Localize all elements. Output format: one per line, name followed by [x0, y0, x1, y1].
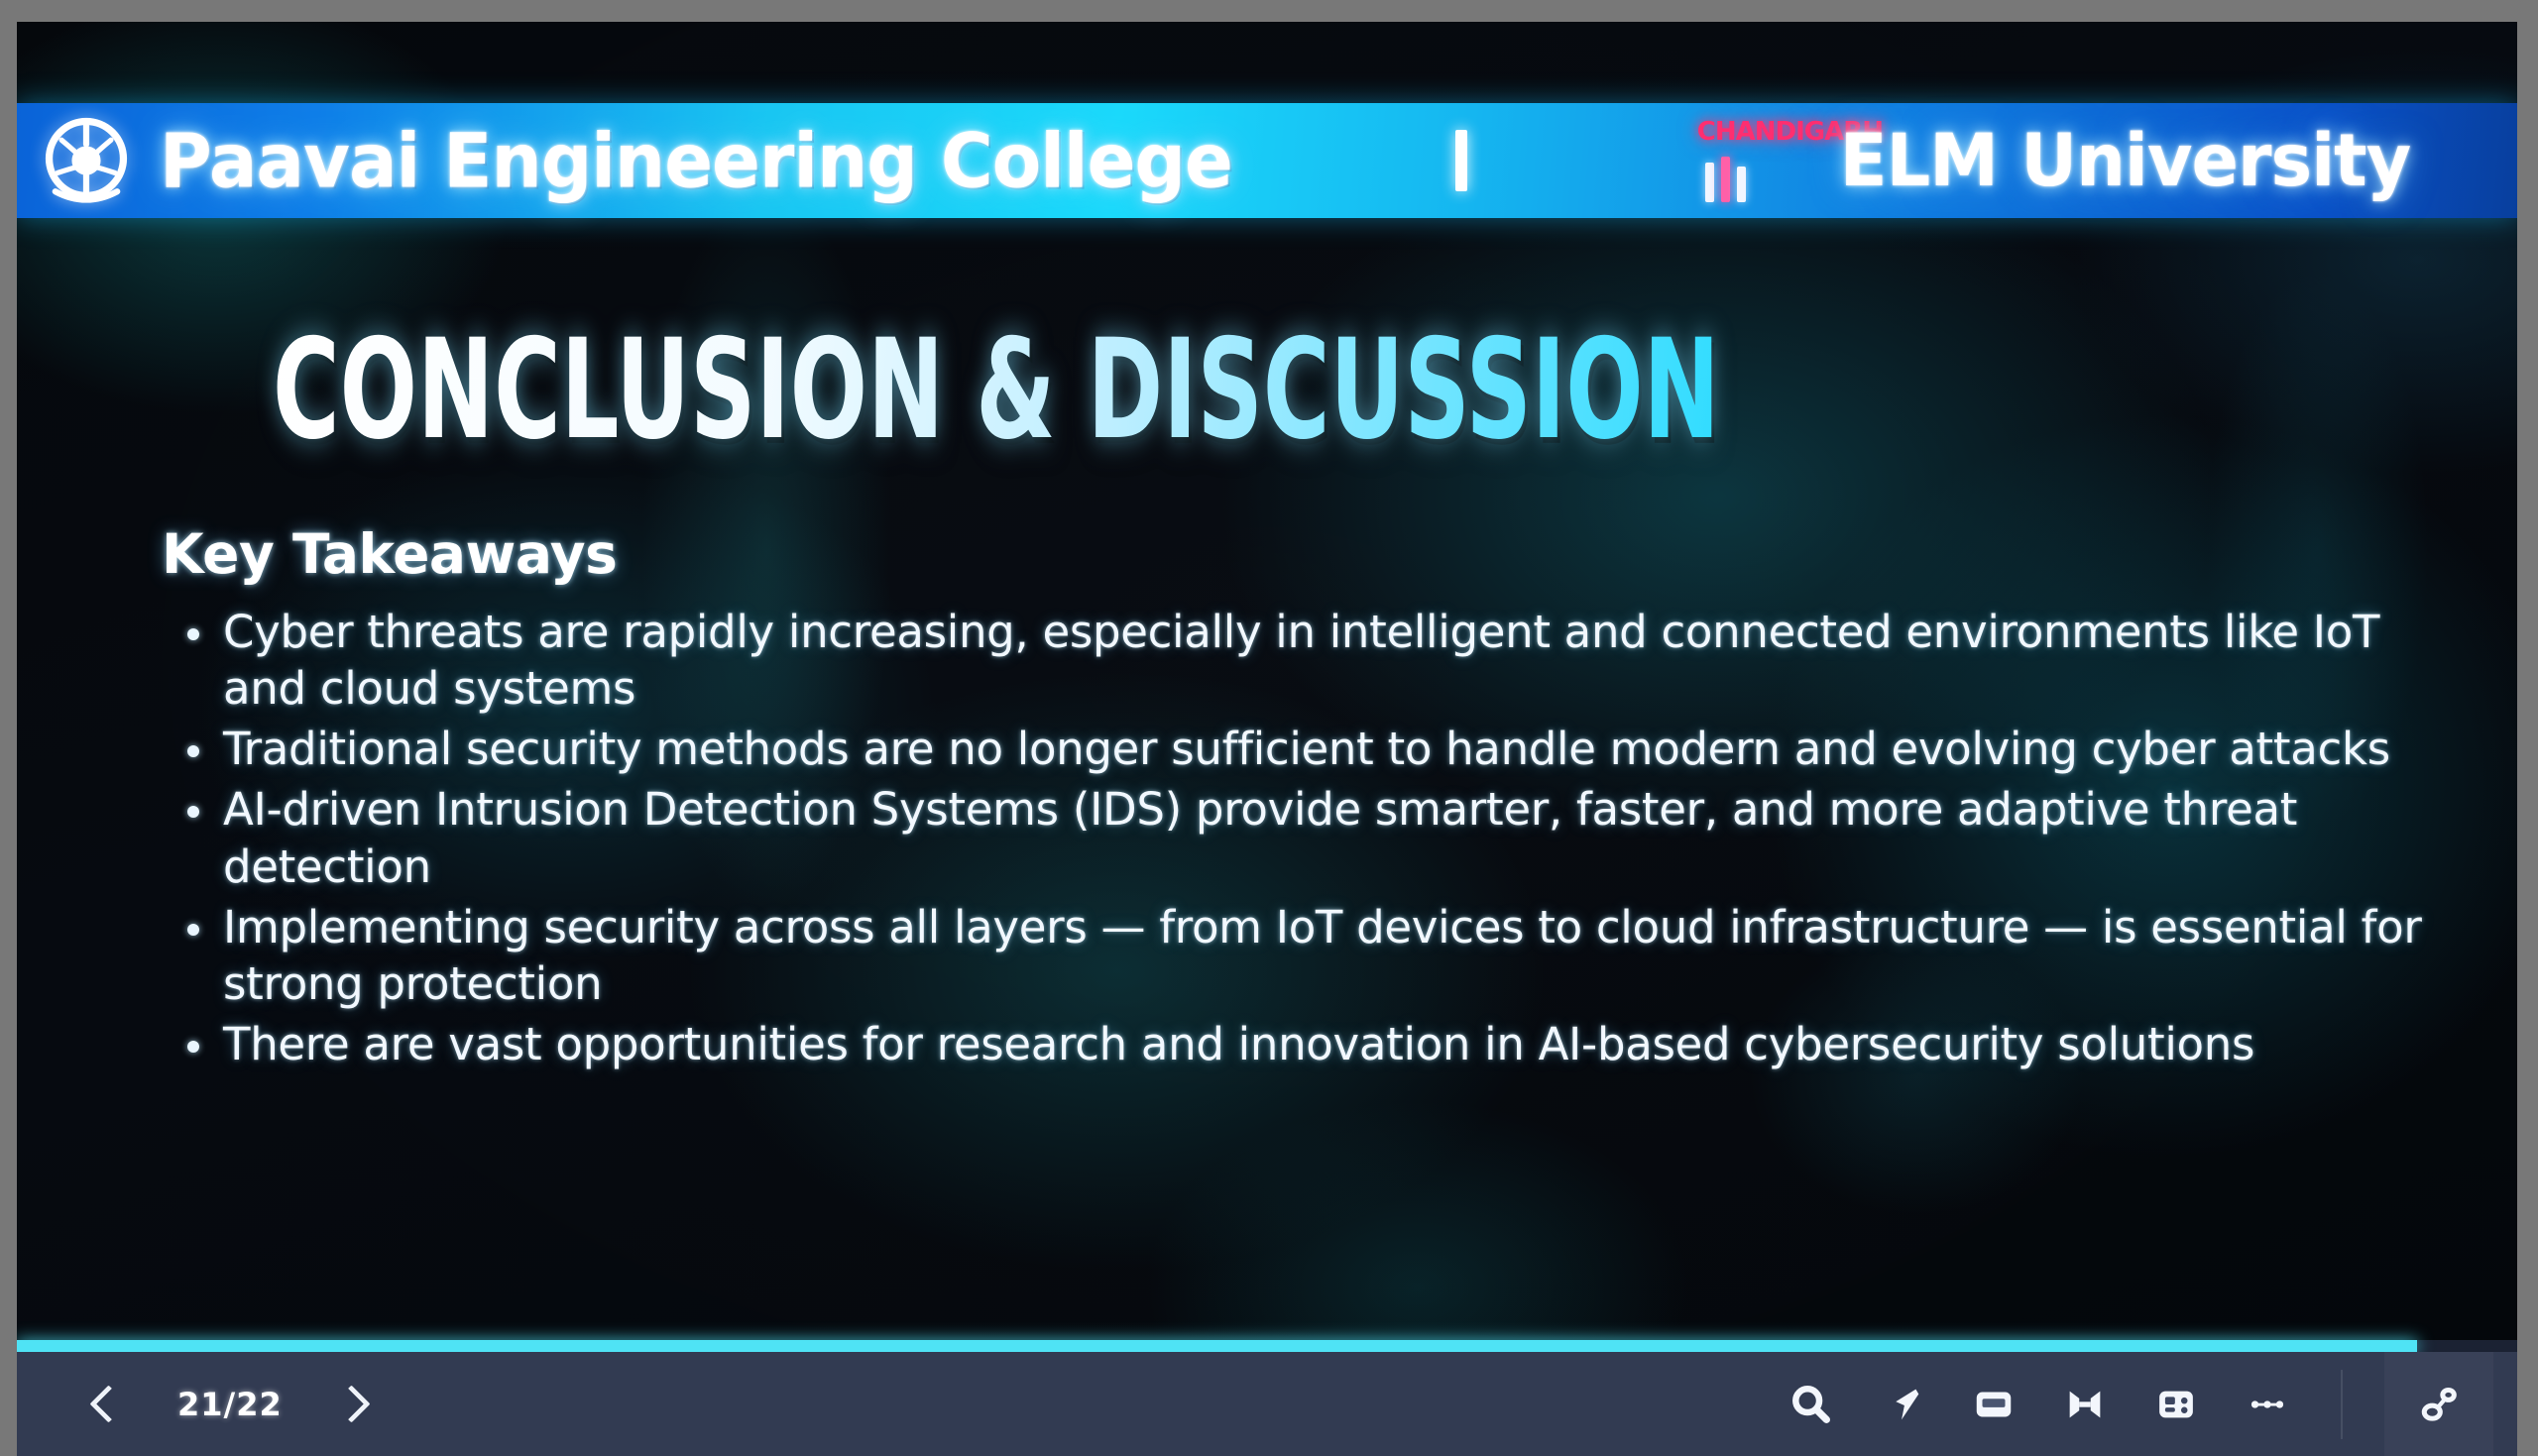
slide-body: Key Takeaways Cyber threats are rapidly …: [162, 522, 2432, 1076]
photo-frame: Paavai Engineering College CHANDIGARH EL…: [0, 0, 2538, 1456]
slide-title: CONCLUSION & DISCUSSION: [273, 309, 1720, 470]
college-name: Paavai Engineering College: [160, 117, 1232, 204]
list-item: Implementing security across all layers …: [162, 899, 2432, 1012]
key-takeaways-list: Cyber threats are rapidly increasing, es…: [162, 604, 2432, 1072]
slide-progress-fill: [17, 1340, 2417, 1352]
slide-header-bar: Paavai Engineering College CHANDIGARH EL…: [17, 103, 2517, 218]
list-item: Traditional security methods are no long…: [162, 721, 2432, 777]
partner-mark-bars: [1705, 157, 1746, 202]
laser-pointer-button[interactable]: [2384, 1352, 2493, 1456]
pen-pointer-icon[interactable]: [1871, 1373, 1934, 1436]
presentation-viewer: Paavai Engineering College CHANDIGARH EL…: [17, 22, 2517, 1456]
grid-view-icon[interactable]: [2144, 1373, 2208, 1436]
slide-canvas: Paavai Engineering College CHANDIGARH EL…: [17, 22, 2517, 1340]
chevron-left-icon: [89, 1385, 127, 1422]
slide-progress-bar[interactable]: [17, 1340, 2517, 1352]
notes-icon[interactable]: [1962, 1373, 2025, 1436]
partner-university-name: ELM University: [1840, 118, 2411, 203]
more-options-icon[interactable]: [2236, 1373, 2299, 1436]
partner-logo: CHANDIGARH ELM University: [1695, 113, 2411, 208]
college-emblem-icon: [35, 109, 138, 212]
previous-slide-button[interactable]: [68, 1375, 148, 1434]
list-item: AI-driven Intrusion Detection Systems (I…: [162, 781, 2432, 894]
toolbar-tools: [1780, 1352, 2493, 1456]
section-heading: Key Takeaways: [162, 522, 2432, 586]
list-item: Cyber threats are rapidly increasing, es…: [162, 604, 2432, 717]
next-slide-button[interactable]: [312, 1375, 392, 1434]
page-indicator[interactable]: 21/22: [158, 1386, 302, 1423]
viewer-toolbar: 21/22: [17, 1352, 2517, 1456]
header-divider: [1455, 130, 1467, 191]
fit-width-icon[interactable]: [2053, 1373, 2117, 1436]
toolbar-navigation: 21/22: [68, 1375, 392, 1434]
chevron-right-icon: [333, 1385, 371, 1422]
laser-pointer-icon[interactable]: [2407, 1373, 2471, 1436]
list-item: There are vast opportunities for researc…: [162, 1016, 2432, 1072]
toolbar-divider: [2341, 1370, 2343, 1439]
search-icon[interactable]: [1780, 1373, 1843, 1436]
partner-mark-icon: CHANDIGARH: [1695, 113, 1804, 208]
